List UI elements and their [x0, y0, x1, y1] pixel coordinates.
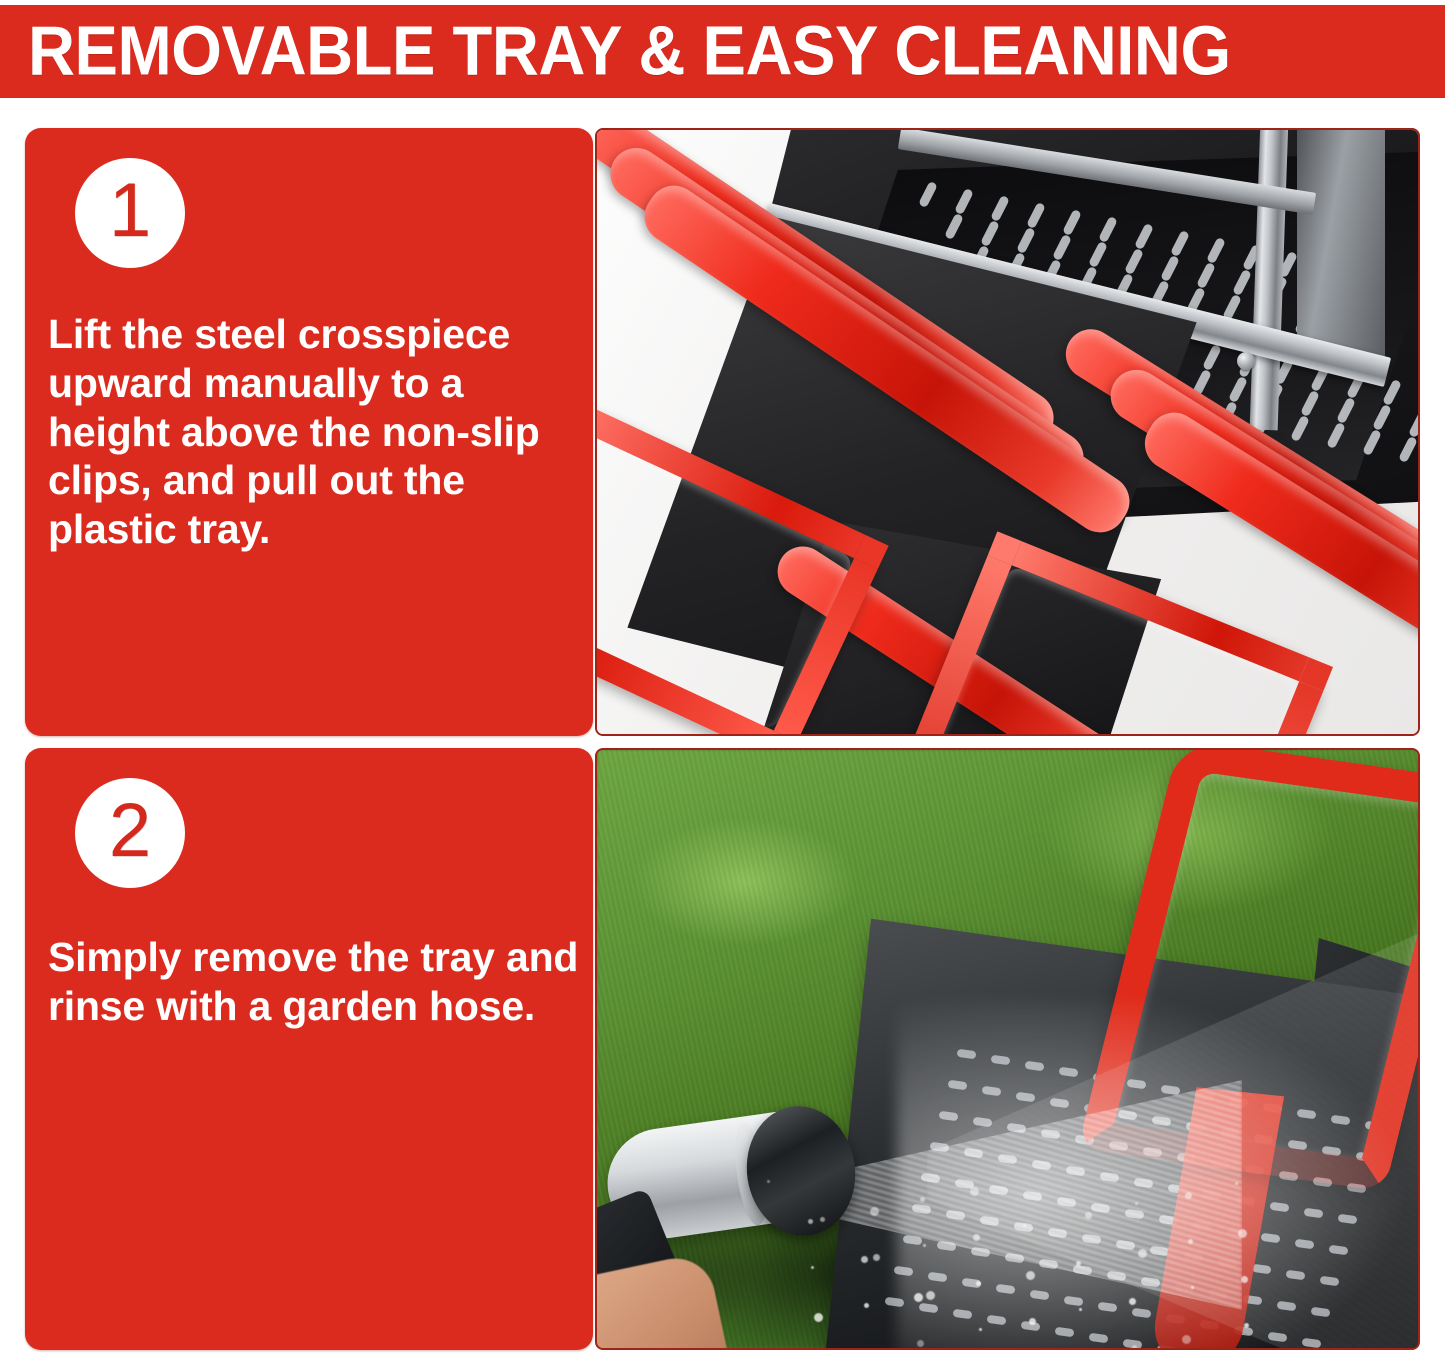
photo-2-droplet: [861, 1256, 868, 1263]
step-2-number-badge: 2: [75, 778, 185, 888]
step-2-text-card: 2 Simply remove the tray and rinse with …: [25, 748, 593, 1350]
photo-2-droplet: [1129, 1298, 1136, 1305]
step-1-number-badge: 1: [75, 158, 185, 268]
photo-1-steel-panel: [1297, 128, 1385, 366]
photo-2-droplet: [1132, 1345, 1137, 1350]
step-1-number: 1: [109, 173, 151, 249]
photo-2-droplet: [1191, 1286, 1194, 1289]
photo-2-droplet: [1079, 1308, 1082, 1311]
photo-2-droplet: [970, 1187, 979, 1196]
step-2-description: Simply remove the tray and rinse with a …: [48, 933, 593, 1031]
photo-2-droplet: [926, 1291, 935, 1300]
step-1-description: Lift the steel crosspiece upward manuall…: [48, 310, 593, 554]
photo-2-droplet: [864, 1303, 869, 1308]
photo-2-droplet: [1138, 1249, 1147, 1258]
photo-2-droplet: [870, 1207, 879, 1216]
step-1-photo: [595, 128, 1420, 736]
step-2-photo: [595, 748, 1420, 1350]
photo-2-droplet: [920, 1197, 925, 1202]
photo-2-droplet: [1185, 1192, 1192, 1199]
photo-2-droplet: [1029, 1318, 1036, 1325]
photo-2-droplet: [973, 1234, 980, 1241]
photo-2-droplet: [1235, 1182, 1238, 1185]
photo-2-droplet: [820, 1217, 825, 1222]
photo-2-droplet: [979, 1328, 982, 1331]
photo-2-droplet: [923, 1244, 926, 1247]
photo-2-droplet: [1026, 1271, 1035, 1280]
header-banner: REMOVABLE TRAY & EASY CLEANING: [0, 5, 1445, 98]
photo-2-droplet: [914, 1293, 923, 1302]
photo-1-screw-a: [1237, 352, 1255, 370]
step-panel-2: 2 Simply remove the tray and rinse with …: [0, 748, 1445, 1350]
photo-2-droplet: [976, 1281, 981, 1286]
photo-2-droplet: [1076, 1261, 1081, 1266]
photo-2-droplet: [814, 1313, 823, 1322]
photo-2-droplet: [917, 1340, 924, 1347]
photo-2-droplet: [873, 1254, 880, 1261]
photo-2-droplet: [1238, 1229, 1247, 1238]
photo-2-droplet: [1182, 1335, 1191, 1344]
photo-2-droplet: [808, 1219, 813, 1224]
photo-2-droplet: [1241, 1276, 1248, 1283]
photo-2-droplet: [1023, 1224, 1026, 1227]
photo-2-droplet: [1085, 1212, 1092, 1219]
step-panel-1: 1 Lift the steel crosspiece upward manua…: [0, 128, 1445, 736]
photo-2-droplet: [1188, 1239, 1193, 1244]
photo-2-droplet: [1135, 1202, 1138, 1205]
photo-2-droplet: [811, 1266, 814, 1269]
step-2-number: 2: [109, 793, 151, 869]
page-title: REMOVABLE TRAY & EASY CLEANING: [28, 15, 1231, 85]
photo-2-droplet: [767, 1180, 770, 1183]
step-1-text-card: 1 Lift the steel crosspiece upward manua…: [25, 128, 593, 736]
photo-2-droplet: [1244, 1323, 1249, 1328]
